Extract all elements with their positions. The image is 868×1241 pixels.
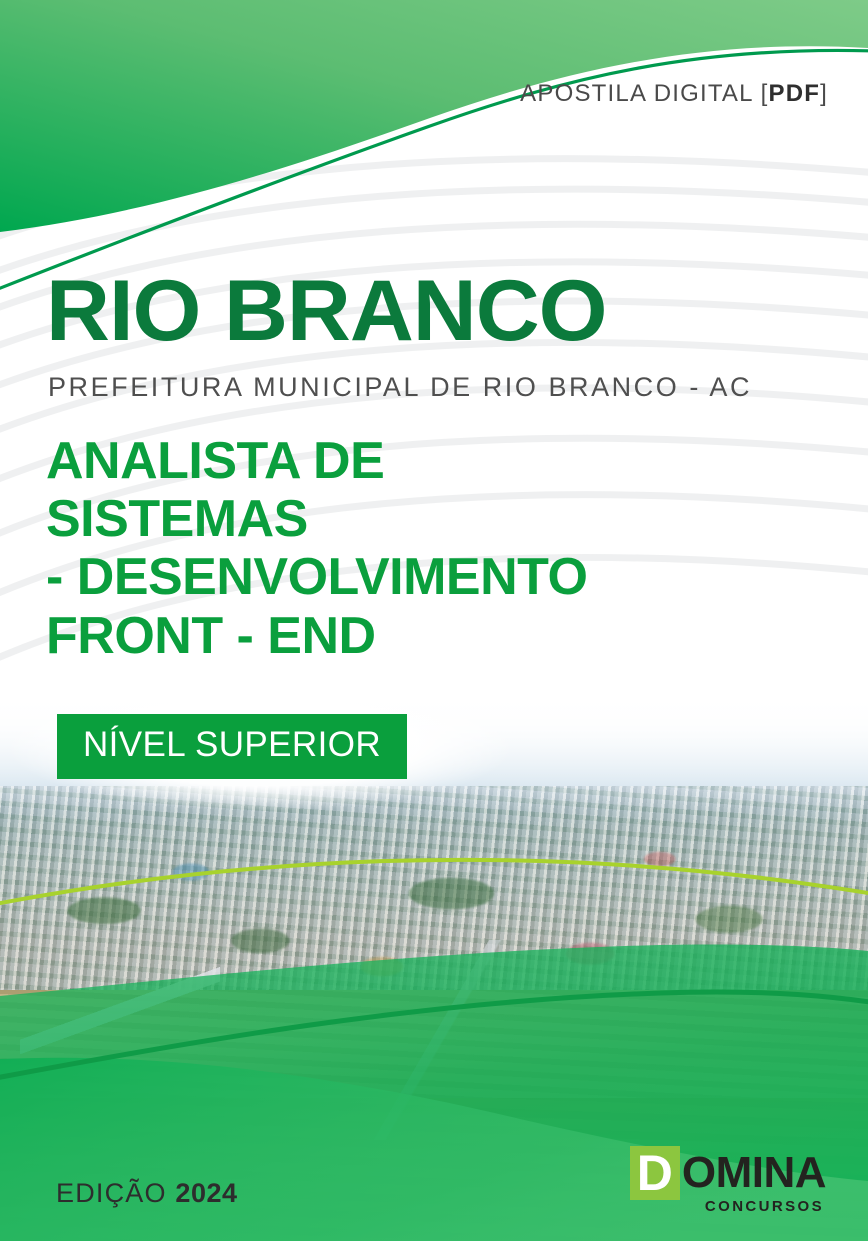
role-line-3: - DESENVOLVIMENTO (46, 548, 806, 606)
top-green-wave (0, 0, 868, 300)
format-label-pdf: PDF (769, 80, 821, 107)
domina-logo-word: OMINA (682, 1151, 826, 1195)
role-line-1: ANALISTA DE (46, 432, 806, 490)
institution-subtitle: PREFEITURA MUNICIPAL DE RIO BRANCO - AC (48, 372, 752, 403)
role-line-4: FRONT - END (46, 607, 806, 665)
domina-logo-row: D OMINA (630, 1146, 826, 1200)
role-line-2: SISTEMAS (46, 490, 806, 548)
status-badge-level: NÍVEL SUPERIOR (57, 714, 407, 779)
domina-logo-subtitle: CONCURSOS (705, 1198, 824, 1215)
apostila-cover: APOSTILA DIGITAL [PDF] RIO BRANCO PREFEI… (0, 0, 868, 1241)
edition-word: EDIÇÃO (56, 1178, 167, 1208)
format-label-text: APOSTILA DIGITAL [ (520, 80, 768, 107)
format-label: APOSTILA DIGITAL [PDF] (520, 80, 828, 108)
role-title: ANALISTA DE SISTEMAS - DESENVOLVIMENTO F… (46, 432, 806, 665)
edition-label: EDIÇÃO 2024 (56, 1178, 238, 1209)
edition-year: 2024 (175, 1178, 237, 1208)
domina-logo: D OMINA CONCURSOS (630, 1146, 826, 1215)
page-title-city: RIO BRANCO (46, 272, 607, 351)
domina-logo-initial: D (630, 1146, 680, 1200)
format-label-bracket: ] (820, 80, 828, 107)
